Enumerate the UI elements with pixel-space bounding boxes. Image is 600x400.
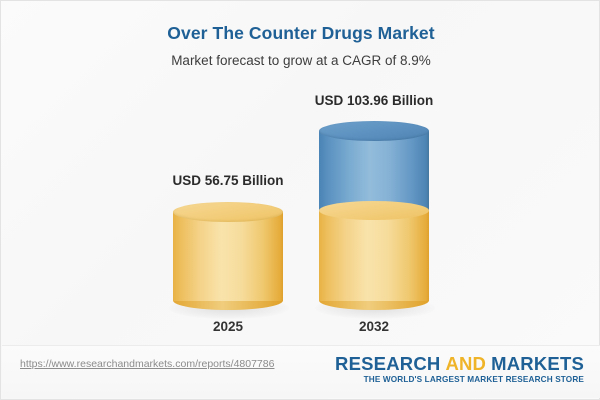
chart-card: Over The Counter Drugs Market Market for… [0, 0, 600, 400]
logo-tagline: THE WORLD'S LARGEST MARKET RESEARCH STOR… [335, 375, 584, 384]
bar-value-label-2032: USD 103.96 Billion [274, 93, 474, 108]
logo-word-markets: MARKETS [491, 353, 584, 374]
report-url-link[interactable]: https://www.researchandmarkets.com/repor… [20, 358, 274, 370]
bar-2025-top-cap [173, 202, 283, 222]
bar-2032-top-cap [319, 121, 429, 141]
plot-area: USD 56.75 Billion 2025 USD 103.96 Billio… [1, 1, 600, 346]
brand-logo[interactable]: RESEARCHANDMARKETS THE WORLD'S LARGEST M… [335, 354, 584, 384]
logo-word-research: RESEARCH [335, 353, 440, 374]
bar-2032-segment-divider-cap [319, 201, 429, 220]
logo-wordmark: RESEARCHANDMARKETS [335, 354, 584, 373]
bar-2032-segment-base-body-overlay [319, 210, 429, 301]
bar-2032-segment-growth-body [319, 131, 429, 211]
bar-2025-body-overlay [173, 212, 283, 301]
logo-word-and: AND [445, 353, 486, 374]
bar-value-label-2025: USD 56.75 Billion [128, 173, 328, 188]
footer: https://www.researchandmarkets.com/repor… [2, 345, 600, 398]
category-label-2032: 2032 [274, 319, 474, 334]
